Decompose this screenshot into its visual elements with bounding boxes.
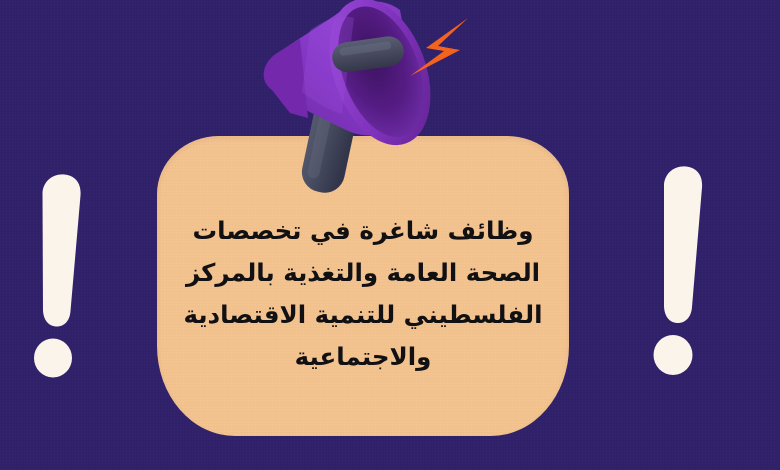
lightning-bolt-icon [404, 14, 484, 86]
lightning-bolt [404, 14, 484, 86]
announcement-headline: وظائف شاغرة في تخصصات الصحة العامة والتغ… [157, 210, 569, 378]
right-exclamation-mark [638, 162, 733, 380]
exclamation-mark-icon [20, 170, 110, 385]
left-exclamation-mark [20, 170, 110, 385]
exclamation-mark-icon [638, 162, 733, 380]
announcement-poster: وظائف شاغرة في تخصصات الصحة العامة والتغ… [0, 0, 780, 470]
